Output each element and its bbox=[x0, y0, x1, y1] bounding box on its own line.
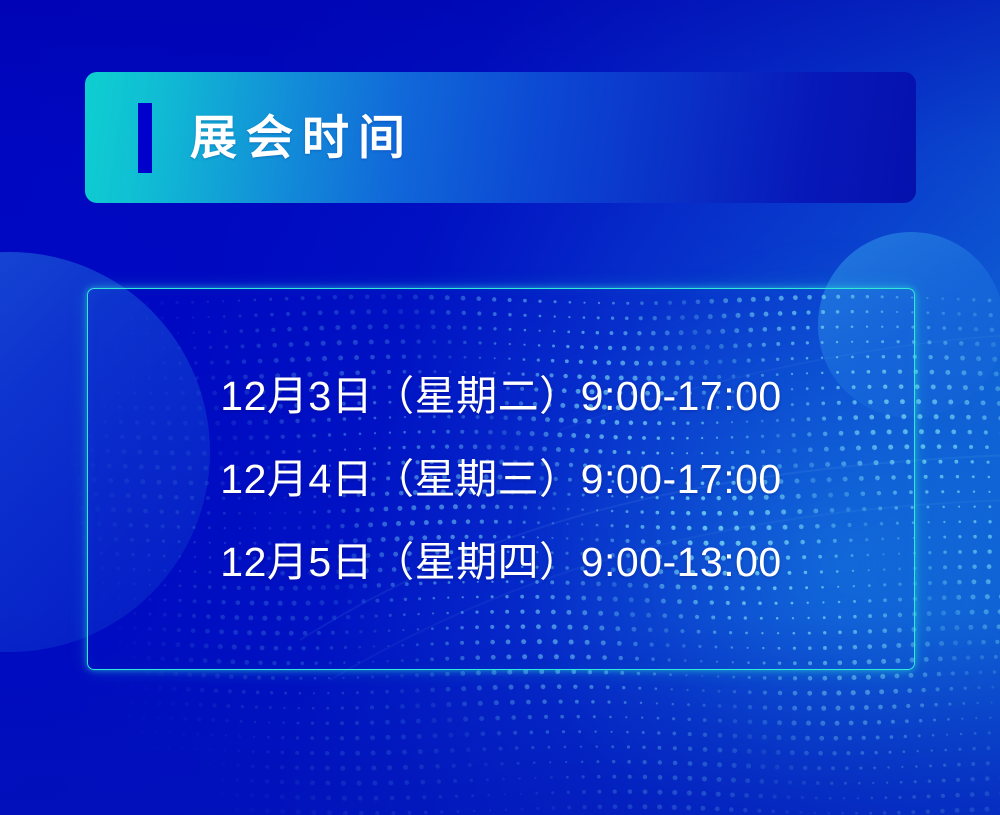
exhibition-time-banner: 展会时间 12月3日（星期二）9:00-17:00 12月4日（星期三）9:00… bbox=[0, 0, 1000, 815]
schedule-item-2: 12月4日（星期三）9:00-17:00 bbox=[220, 459, 781, 500]
schedule-item-3: 12月5日（星期四）9:00-13:00 bbox=[220, 542, 781, 583]
page-title: 展会时间 bbox=[190, 114, 414, 161]
schedule-card: 12月3日（星期二）9:00-17:00 12月4日（星期三）9:00-17:0… bbox=[87, 288, 915, 670]
section-title-bar: 展会时间 bbox=[85, 72, 916, 203]
schedule-list: 12月3日（星期二）9:00-17:00 12月4日（星期三）9:00-17:0… bbox=[220, 376, 781, 583]
schedule-item-1: 12月3日（星期二）9:00-17:00 bbox=[220, 376, 781, 417]
title-accent-bar bbox=[138, 103, 152, 173]
